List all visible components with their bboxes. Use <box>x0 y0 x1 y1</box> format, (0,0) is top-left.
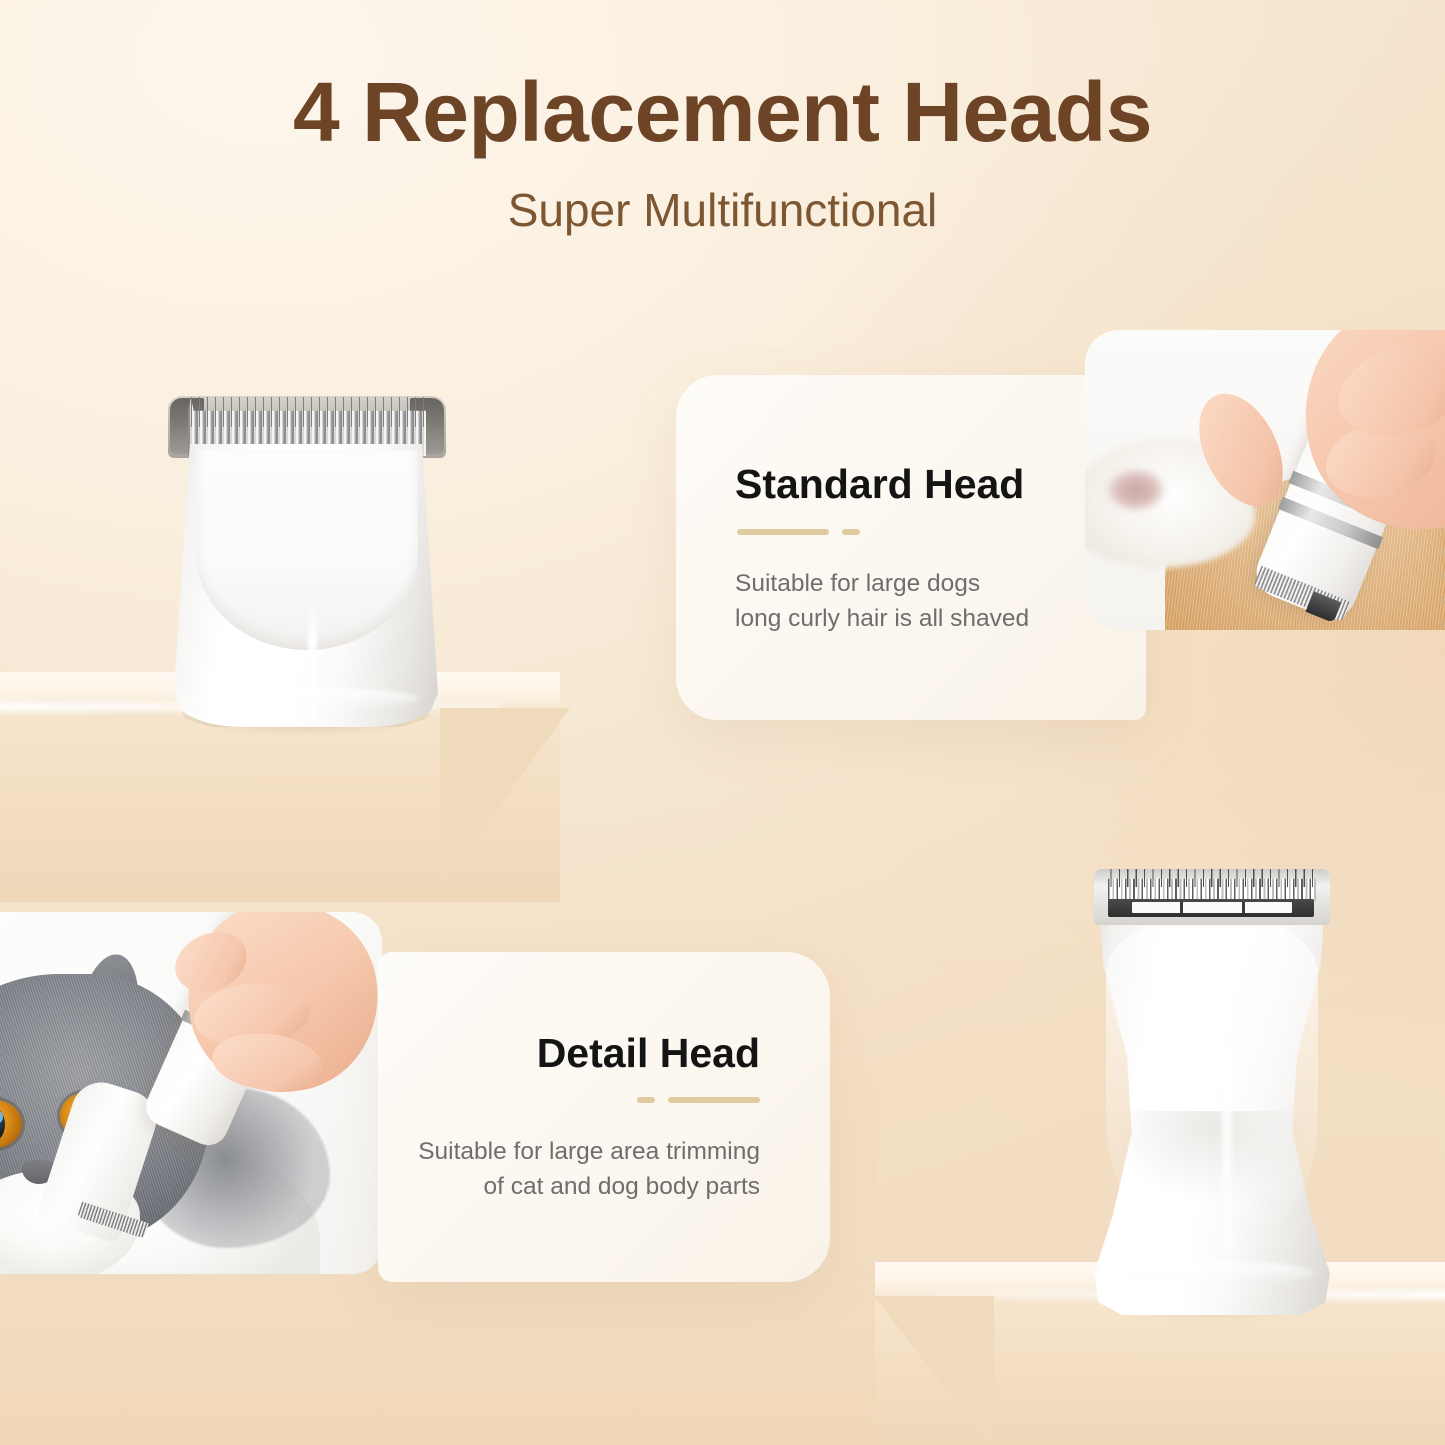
blade-white-inlay <box>1132 902 1292 913</box>
blade-teeth-points <box>188 397 426 427</box>
clipper-head-highlight <box>1222 1005 1232 1255</box>
clipper-head-base-highlight <box>1110 1261 1314 1285</box>
card-standard-head[interactable]: Standard Head Suitable for large dogs lo… <box>676 375 1146 720</box>
card-standard-head-divider <box>737 529 860 535</box>
blade-teeth-points <box>1108 869 1316 887</box>
divider-segment-long <box>668 1097 760 1103</box>
divider-segment-short <box>637 1097 655 1103</box>
clipper-head-inner-shade <box>1112 1111 1312 1261</box>
divider-segment-long <box>737 529 829 535</box>
card-detail-head[interactable]: Detail Head Suitable for large area trim… <box>378 952 830 1282</box>
card-standard-head-title: Standard Head <box>735 461 1024 508</box>
pet-paw-pad <box>1107 470 1165 510</box>
divider-segment-short <box>842 529 860 535</box>
pedestal-left-bevel <box>440 708 570 888</box>
card-standard-head-description: Suitable for large dogs long curly hair … <box>735 567 1029 637</box>
product-standard-head-render <box>160 392 452 727</box>
product-detail-head-render <box>1072 855 1352 1315</box>
photo-cat-grooming <box>0 912 382 1274</box>
clipper-head-notch <box>196 450 418 650</box>
card-detail-head-divider <box>637 1097 760 1103</box>
product-infographic: 4 Replacement Heads Super Multifunctiona… <box>0 0 1445 1445</box>
card-detail-head-description: Suitable for large area trimming of cat … <box>418 1135 760 1205</box>
photo-dog-grooming <box>1085 330 1445 630</box>
page-subtitle: Super Multifunctional <box>0 183 1445 238</box>
card-detail-head-title: Detail Head <box>537 1030 760 1077</box>
page-title: 4 Replacement Heads <box>0 68 1445 156</box>
pedestal-right-bevel <box>874 1296 994 1445</box>
clipper-head-base-highlight <box>190 688 420 710</box>
